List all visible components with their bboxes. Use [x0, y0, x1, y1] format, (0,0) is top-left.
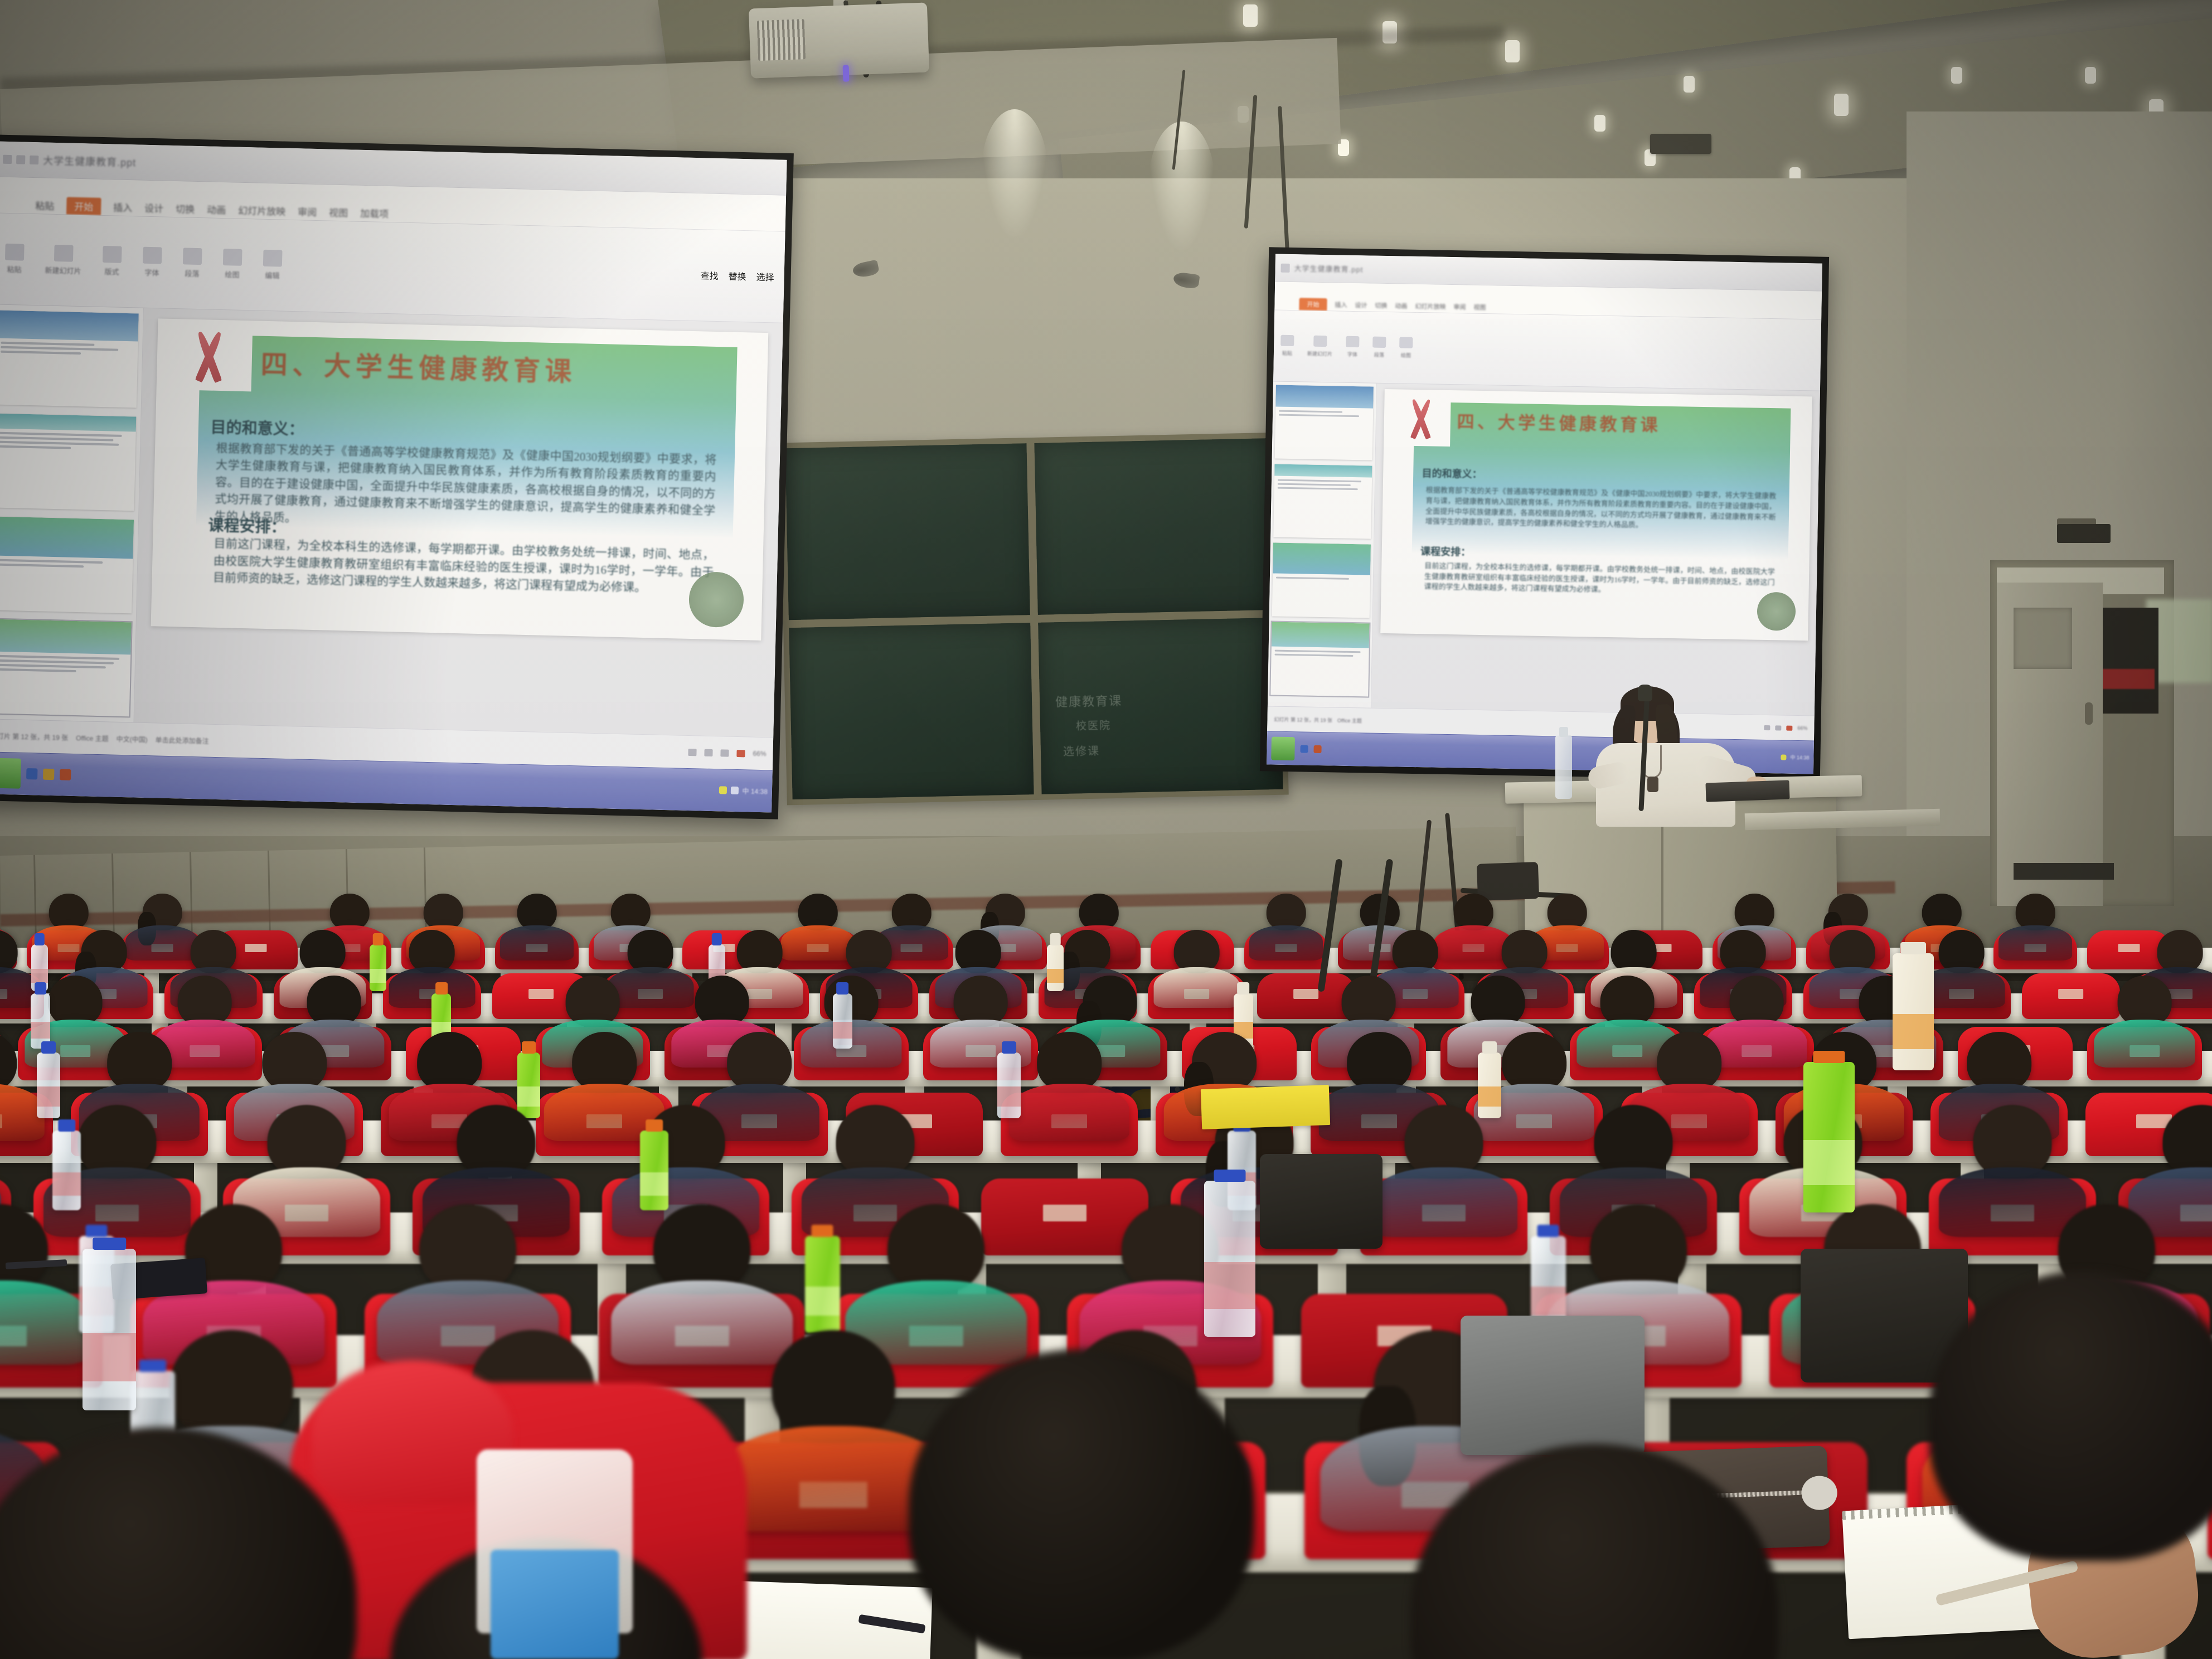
ribbon-group-label: 段落: [185, 268, 199, 279]
water-bottle[interactable]: [805, 1236, 840, 1333]
bottle-cap: [1813, 1051, 1845, 1063]
slide-bullet-heading: 目的和意义：: [210, 415, 304, 439]
slide-bullet-body: 目前这门课程，为全校本科生的选修课，每学期都开课。由学校教务处统一排课，时间、地…: [213, 535, 715, 598]
view-normal-button[interactable]: [688, 749, 696, 756]
slide-thumbnail[interactable]: [1275, 385, 1374, 460]
tab-insert[interactable]: 插入: [113, 200, 133, 216]
ribbon-group-drawing[interactable]: 绘图: [1399, 337, 1413, 358]
chalk-note: 健康教育课: [1055, 691, 1123, 711]
podium-water-bottle: [1555, 735, 1572, 799]
bottle-cap: [35, 982, 47, 995]
slide-thumbnail-panel[interactable]: [1268, 381, 1377, 707]
slide-thumbnail[interactable]: [0, 413, 136, 511]
language-indicator[interactable]: 中文(中国): [116, 734, 147, 744]
student: [1244, 894, 1328, 970]
tab-view[interactable]: 视图: [1473, 302, 1486, 313]
paste-icon[interactable]: [5, 244, 25, 261]
bottle-cap: [522, 1041, 536, 1054]
student-torso: [2094, 1020, 2195, 1068]
student-head: [107, 1032, 172, 1092]
backpack[interactable]: [1260, 1154, 1382, 1249]
ceiling-downlight: [1684, 76, 1695, 93]
tab-home[interactable]: 开始: [66, 197, 101, 215]
ribbon-group-label: 粘贴: [7, 264, 21, 275]
yellow-notepad[interactable]: [1201, 1085, 1330, 1129]
student-torso: [500, 925, 574, 961]
student: [2087, 976, 2202, 1080]
tab-slideshow[interactable]: 幻灯片放映: [1415, 302, 1445, 313]
slide-bullet-heading: 课程安排：: [1420, 544, 1471, 559]
current-slide[interactable]: 四、大学生健康教育课 目的和意义： 根据教育部下发的关于《普通高等学校健康教育规…: [151, 318, 769, 641]
bottle-cap: [836, 982, 848, 995]
select-button[interactable]: 选择: [756, 270, 774, 284]
aids-ribbon-icon: [1403, 398, 1439, 440]
student-head: [78, 1105, 157, 1178]
ceiling-downlight: [2085, 67, 2096, 84]
ppt-workspace: 四、大学生健康教育课 目的和意义： 根据教育部下发的关于《普通高等学校健康教育规…: [0, 304, 783, 738]
slide-editing-area[interactable]: 四、大学生健康教育课 目的和意义： 根据教育部下发的关于《普通高等学校健康教育规…: [134, 308, 783, 737]
chalk-note: 选修课: [1063, 742, 1100, 759]
view-slideshow-button[interactable]: [1786, 725, 1792, 730]
slide-counter: 幻灯片 第 12 张，共 19 张: [1274, 715, 1332, 724]
taskbar-icon-ie[interactable]: [1300, 745, 1308, 753]
ceiling-downlight: [1505, 40, 1520, 62]
slide-bullet-body: 目前这门课程，为全校本科生的选修课，每学期都开课。由学校教务处统一排课，时间、地…: [1424, 561, 1776, 598]
chalk-note: 校医院: [1076, 717, 1112, 733]
student-head: [1590, 1204, 1687, 1293]
slide-thumbnail-current[interactable]: [0, 619, 132, 717]
bottle-label: [1478, 1086, 1501, 1106]
tab-slideshow[interactable]: 幻灯片放映: [238, 202, 286, 219]
bottle-cap: [1482, 1041, 1497, 1054]
student-head: [170, 1330, 293, 1442]
ceiling-projector: [749, 2, 929, 78]
bottle-label: [52, 1172, 81, 1196]
water-bottle[interactable]: [640, 1131, 668, 1210]
student-head: [1037, 1032, 1102, 1092]
ppt-workspace: 四、大学生健康教育课 目的和意义： 根据教育部下发的关于《普通高等学校健康教育规…: [1268, 381, 1820, 715]
student-torso: [1370, 1167, 1517, 1236]
theme-name: Office 主题: [76, 733, 109, 743]
font-icon[interactable]: [143, 246, 162, 264]
student-torso: [1009, 1084, 1129, 1141]
tab-transitions[interactable]: 切换: [176, 201, 195, 217]
taskbar-icon-folder[interactable]: [43, 769, 54, 780]
podium-microphone: [1638, 685, 1652, 701]
tab-review[interactable]: 审阅: [298, 204, 317, 220]
bottle-label: [1893, 1014, 1934, 1049]
bottle-cap: [1050, 933, 1061, 945]
view-slideshow-button[interactable]: [736, 750, 745, 757]
bottle-cap: [93, 1238, 126, 1250]
ceiling-downlight: [1834, 94, 1849, 116]
tab-animations[interactable]: 动画: [207, 202, 226, 218]
theme-name: Office 主题: [1337, 716, 1362, 724]
seat-number-tag: [2058, 989, 2084, 999]
ribbon-group-label: 字体: [144, 267, 159, 278]
wall-wash-light: [981, 109, 1048, 237]
ribbon-group-label: 绘图: [1401, 351, 1411, 358]
save-icon[interactable]: [1280, 263, 1289, 272]
ribbon-group-label: 新建幻灯片: [1307, 350, 1332, 357]
door-handle[interactable]: [2085, 702, 2093, 725]
bottle-label: [1531, 1287, 1566, 1316]
ceiling-downlight: [1594, 115, 1605, 132]
tab-transitions[interactable]: 切换: [1375, 300, 1387, 311]
new-slide-icon[interactable]: [54, 245, 73, 262]
ribbon-group-font[interactable]: 字体: [142, 246, 162, 278]
student-head: [1347, 1032, 1411, 1092]
slide-bullet-heading: 目的和意义：: [1422, 465, 1482, 481]
powerpoint-window-left: 大学生健康教育.ppt 粘贴 开始 插入 设计 切换 动画 幻灯片放映 审阅 视…: [0, 141, 787, 812]
wall-wash-light: [1148, 122, 1215, 250]
student-head: [727, 1032, 792, 1092]
new-slide-icon[interactable]: [1313, 336, 1327, 347]
slide-thumbnail[interactable]: [0, 516, 134, 614]
slide-thumbnail-current[interactable]: [1270, 622, 1370, 697]
door-kickplate: [2014, 863, 2114, 880]
slide-thumbnail-panel[interactable]: [0, 304, 144, 722]
foreground-student-head: [909, 1349, 1254, 1659]
student-head: [1502, 1032, 1566, 1092]
student-head: [887, 1204, 984, 1293]
ribbon-group-editing[interactable]: 编辑: [263, 250, 282, 281]
ribbon-group-label: 段落: [1374, 351, 1384, 358]
ribbon-group-label: 字体: [1347, 351, 1357, 358]
undo-icon[interactable]: [16, 155, 25, 164]
tab-design[interactable]: 设计: [1355, 300, 1367, 311]
bottle-label: [997, 1086, 1021, 1106]
system-tray[interactable]: 中 14:38: [1781, 754, 1809, 761]
student-head: [1657, 1032, 1721, 1092]
student-head: [1967, 1032, 2031, 1092]
slide-watermark: [1757, 591, 1796, 630]
tab-insert[interactable]: 插入: [1335, 300, 1347, 311]
bottle-cap: [373, 933, 384, 945]
ribbon-group-label: 粘贴: [1282, 350, 1292, 357]
water-bottle[interactable]: [997, 1052, 1021, 1118]
student-head: [653, 1204, 750, 1293]
ribbon-group-layout[interactable]: 版式: [102, 246, 122, 277]
bottle-cap: [646, 1119, 663, 1132]
over-door-panel: [2057, 524, 2111, 543]
document-title: 大学生健康教育.ppt: [1294, 263, 1363, 274]
student-head: [2163, 1105, 2212, 1178]
ceiling-downlight: [1951, 67, 1962, 84]
student-head: [772, 1330, 895, 1442]
tab-design[interactable]: 设计: [144, 201, 164, 217]
student: [495, 894, 579, 970]
ribbon-group-new-slide[interactable]: 新建幻灯片: [45, 244, 81, 276]
view-normal-button[interactable]: [1764, 725, 1770, 730]
chalkboard: 健康教育课 校医院 选修课: [779, 433, 1288, 806]
tray-clock: 中 14:38: [1790, 754, 1809, 761]
document-title: 大学生健康教育.ppt: [43, 153, 137, 169]
student-head: [0, 1032, 17, 1092]
bottle-cap: [435, 982, 448, 995]
student-head: [268, 1105, 346, 1178]
tab-file[interactable]: 粘贴: [35, 198, 55, 214]
bottle-label: [805, 1287, 840, 1316]
water-bottle[interactable]: [833, 993, 852, 1049]
system-tray[interactable]: 中 14:38: [719, 785, 768, 796]
slide-thumbnail[interactable]: [0, 310, 139, 408]
left-projection-screen: 大学生健康教育.ppt 粘贴 开始 插入 设计 切换 动画 幻灯片放映 审阅 视…: [0, 134, 794, 819]
student-head: [0, 1204, 48, 1293]
aids-ribbon-icon: [184, 329, 235, 384]
chalkboard-pane: 健康教育课 校医院 选修课: [1038, 618, 1283, 794]
tray-icon[interactable]: [730, 787, 738, 794]
student-head: [1973, 1105, 2052, 1178]
tray-icon[interactable]: [1781, 754, 1786, 760]
backpack[interactable]: [1461, 1316, 1645, 1455]
water-bottle[interactable]: [83, 1249, 136, 1410]
bottle-label: [640, 1172, 668, 1196]
tab-addins[interactable]: 加载项: [360, 206, 389, 222]
start-button[interactable]: [1271, 736, 1295, 760]
save-icon[interactable]: [3, 154, 12, 163]
bottle-label: [517, 1086, 541, 1106]
bottle-cap: [1002, 1041, 1016, 1054]
view-sorter-button[interactable]: [704, 749, 712, 756]
bottle-cap: [34, 933, 45, 945]
bottle-cap: [139, 1360, 167, 1372]
student-head: [419, 1204, 516, 1293]
layout-icon[interactable]: [103, 246, 122, 263]
redo-icon[interactable]: [30, 156, 38, 164]
student-head: [457, 1105, 536, 1178]
notes-placeholder[interactable]: 单击此处添加备注: [155, 735, 208, 745]
student-torso: [1249, 925, 1323, 961]
slide-counter: 幻灯片 第 12 张，共 19 张: [0, 731, 68, 742]
door-window: [2014, 608, 2072, 669]
student-head: [417, 1032, 482, 1092]
view-reading-button[interactable]: [720, 749, 729, 756]
zoom-level[interactable]: 66%: [753, 750, 766, 758]
student-head: [1405, 1105, 1483, 1178]
ribbon-group-font[interactable]: 字体: [1346, 336, 1360, 358]
paste-icon[interactable]: [1280, 335, 1294, 346]
bottle-label: [37, 1086, 60, 1106]
slide-bullet-body: 根据教育部下发的关于《普通高等学校健康教育规范》及《健康中国2030规划纲要》中…: [1425, 485, 1777, 533]
student: [1360, 1105, 1527, 1255]
ribbon-group-paste[interactable]: 粘贴: [4, 244, 24, 275]
current-slide[interactable]: 四、大学生健康教育课 目的和意义： 根据教育部下发的关于《普通高等学校健康教育规…: [1381, 389, 1812, 641]
find-button[interactable]: 查找: [700, 269, 719, 283]
font-icon[interactable]: [1346, 336, 1359, 347]
ribbon-group-label: 版式: [104, 266, 119, 277]
slide-thumbnail[interactable]: [1272, 543, 1371, 618]
student-head: [262, 1032, 327, 1092]
tab-review[interactable]: 审阅: [1453, 302, 1466, 313]
projector-led-indicator: [843, 65, 850, 81]
exit-sign: [2102, 669, 2155, 689]
drawing-icon[interactable]: [223, 249, 242, 266]
slide-editing-area[interactable]: 四、大学生健康教育课 目的和意义： 根据教育部下发的关于《普通高等学校健康教育规…: [1371, 384, 1820, 715]
ribbon-group-paragraph[interactable]: 段落: [1372, 336, 1386, 358]
zoom-level[interactable]: 66%: [1797, 725, 1807, 731]
bottle-cap: [58, 1119, 76, 1132]
projector-vent: [757, 19, 806, 61]
ribbon-group-new-slide[interactable]: 新建幻灯片: [1307, 335, 1333, 357]
bottle-cap: [86, 1225, 108, 1237]
tab-animations[interactable]: 动画: [1395, 301, 1407, 312]
ribbon-group-label: 编辑: [265, 270, 279, 281]
lecture-hall-photo: 健康教育课 校医院 选修课 大学生健康教育.ppt 粘贴 开始 插入 设计: [0, 0, 2212, 1659]
student: [1001, 1032, 1138, 1156]
water-bottle[interactable]: [1204, 1181, 1255, 1337]
slide-watermark: [688, 571, 744, 628]
tab-home[interactable]: 开始: [1299, 298, 1327, 311]
lotion-bottle[interactable]: [1893, 953, 1934, 1070]
ribbon-group-paste[interactable]: 粘贴: [1280, 335, 1294, 357]
view-sorter-button[interactable]: [1775, 725, 1781, 730]
tray-clock: 中 14:38: [742, 786, 768, 796]
paragraph-icon[interactable]: [1372, 336, 1386, 347]
taskbar-icon-powerpoint[interactable]: [1313, 745, 1321, 753]
ribbon-group-paragraph[interactable]: 段落: [182, 248, 202, 279]
ribbon-toolbar: 粘贴 新建幻灯片 字体 段落: [1273, 310, 1821, 391]
student-head: [1594, 1105, 1673, 1178]
drink-cup[interactable]: [491, 1550, 619, 1659]
slide-bullet-heading: 课程安排：: [208, 513, 287, 537]
taskbar-icon-powerpoint[interactable]: [60, 769, 71, 780]
paragraph-icon[interactable]: [183, 248, 202, 265]
ribbon-group-label: 绘图: [225, 269, 239, 280]
podium-laptop: [1705, 780, 1789, 802]
green-sport-bottle[interactable]: [1803, 1062, 1855, 1212]
ribbon-group-drawing[interactable]: 绘图: [222, 249, 242, 280]
lecturer-pendant: [1647, 777, 1658, 792]
bottle-cap: [41, 1041, 56, 1054]
bottle-cap: [1537, 1225, 1559, 1237]
taskbar-icon-ie[interactable]: [26, 768, 37, 779]
chalkboard-pane: [785, 443, 1030, 620]
ribbon-group-label: 新建幻灯片: [45, 264, 81, 276]
replace-button[interactable]: 替换: [728, 269, 746, 283]
start-button[interactable]: [0, 758, 21, 789]
tray-icon[interactable]: [719, 787, 726, 794]
bottle-cap: [1237, 982, 1249, 995]
slide-bullet-body: 根据教育部下发的关于《普通高等学校健康教育规范》及《健康中国2030规划纲要》中…: [214, 440, 716, 536]
bottle-label: [83, 1333, 136, 1381]
drawing-icon[interactable]: [1399, 337, 1413, 348]
aids-ribbon-image: [166, 322, 253, 391]
bottle-label: [833, 1022, 852, 1039]
bottle-label: [1204, 1262, 1255, 1309]
chalkboard-pane: [1034, 438, 1279, 615]
tab-view[interactable]: 视图: [329, 205, 348, 221]
slide-thumbnail[interactable]: [1273, 464, 1372, 539]
wall-sensor-box: [1650, 134, 1711, 154]
bottle-label: [1803, 1140, 1855, 1185]
chalkboard-pane: [789, 623, 1034, 799]
ceiling-downlight: [1243, 4, 1258, 27]
bottle-cap: [812, 1225, 833, 1237]
ribbon-toolbar: 粘贴 新建幻灯片 版式 字体: [0, 213, 785, 323]
student-head: [572, 1032, 637, 1092]
bottle-cap: [711, 933, 722, 945]
water-bottle[interactable]: [52, 1131, 81, 1210]
editing-icon[interactable]: [263, 250, 283, 267]
student-head: [836, 1105, 915, 1178]
aids-ribbon-image: [1390, 392, 1451, 447]
bottle-cap: [1900, 942, 1926, 954]
bottle-cap: [1214, 1170, 1245, 1182]
